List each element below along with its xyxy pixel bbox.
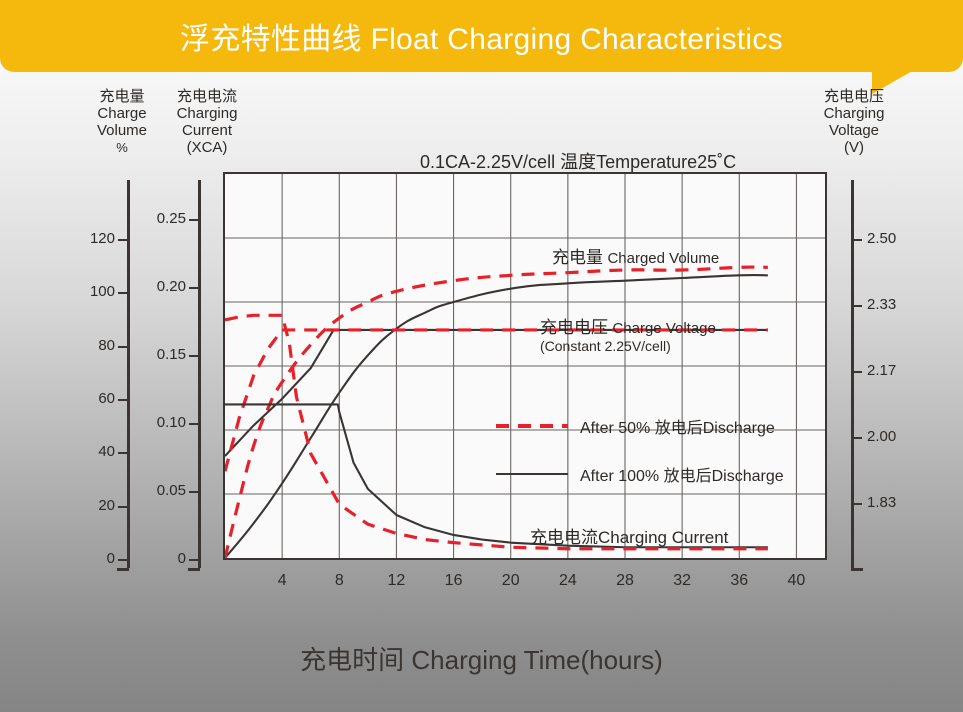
axis-title-line: % [78, 139, 166, 156]
axis-line-charging-current [198, 180, 201, 568]
axis-tick-label: 0.20 [0, 278, 186, 295]
axis-tick [851, 503, 862, 505]
axis-title-line: Charge [78, 105, 166, 122]
axis-tick-label: 40 [0, 443, 115, 460]
x-axis-tick-label: 32 [673, 572, 691, 590]
axis-tick-label: 2.17 [867, 362, 896, 379]
x-axis-title: 充电时间 Charging Time(hours) [0, 640, 963, 677]
axis-tick [851, 239, 862, 241]
legend-swatch-dashed [496, 424, 568, 428]
axis-tick [189, 423, 200, 425]
axis-tick-label: 0 [0, 550, 186, 567]
banner-body: 浮充特性曲线 Float Charging Characteristics [0, 0, 963, 72]
axis-tick [118, 239, 129, 241]
annotation-charging-current: 充电电流Charging Current [530, 528, 728, 548]
axis-tick [118, 399, 129, 401]
axis-tick-label: 0.15 [0, 346, 186, 363]
page-title: 浮充特性曲线 Float Charging Characteristics [180, 14, 783, 58]
axis-tick [851, 437, 862, 439]
axis-tick-label: 0.25 [0, 210, 186, 227]
annotation-charged-volume: 充电量 Charged Volume [552, 248, 719, 268]
chart-subtitle: 0.1CA-2.25V/cell 温度Temperature25˚C [420, 148, 736, 174]
x-axis-tick-label: 24 [559, 572, 577, 590]
axis-tick-label: 2.33 [867, 296, 896, 313]
axis-tick-label: 1.83 [867, 494, 896, 511]
axis-endcap [188, 568, 200, 571]
axis-title-line: 充电量 [78, 88, 166, 105]
axis-tick-label: 60 [0, 390, 115, 407]
axis-tick-label: 0.05 [0, 482, 186, 499]
axis-title-line: 充电电流 [164, 88, 250, 105]
axis-tick [189, 355, 200, 357]
annotation-sub: (Constant 2.25V/cell) [540, 338, 716, 354]
axis-title-line: (V) [812, 139, 896, 156]
axis-title-line: Volume [78, 122, 166, 139]
plot-svg [225, 174, 825, 558]
axis-tick [851, 305, 862, 307]
legend-item: After 100% 放电后Discharge [496, 450, 826, 498]
axis-tick [189, 287, 200, 289]
legend-swatch-solid [496, 473, 568, 475]
x-axis-tick-label: 36 [730, 572, 748, 590]
axis-tick [118, 506, 129, 508]
x-axis-tick-label: 20 [502, 572, 520, 590]
axis-tick [118, 452, 129, 454]
axis-title-charging-current: 充电电流 Charging Current (XCA) [164, 88, 250, 156]
x-axis-tick-label: 8 [335, 572, 344, 590]
legend: After 50% 放电后DischargeAfter 100% 放电后Disc… [496, 402, 826, 498]
axis-tick [851, 371, 862, 373]
axis-tick [189, 491, 200, 493]
axis-title-line: (XCA) [164, 139, 250, 156]
annotation-cn: 充电量 [552, 248, 603, 267]
annotation-cn: 充电电流Charging Current [530, 528, 728, 547]
chart-page: 浮充特性曲线 Float Charging Characteristics 充电… [0, 0, 963, 712]
axis-tick-label: 2.00 [867, 428, 896, 445]
annotation-charge-voltage: 充电电压 Charge Voltage (Constant 2.25V/cell… [540, 318, 716, 354]
x-axis-tick-label: 12 [388, 572, 406, 590]
legend-item: After 50% 放电后Discharge [496, 402, 826, 450]
axis-title-line: Current [164, 122, 250, 139]
annotation-en: Charge Voltage [612, 320, 715, 337]
axis-title-line: Charging [164, 105, 250, 122]
legend-label: After 50% 放电后Discharge [580, 414, 775, 438]
axis-tick-label: 20 [0, 497, 115, 514]
axis-tick-label: 0.10 [0, 414, 186, 431]
axis-title-line: Voltage [812, 122, 896, 139]
axis-tick-label: 120 [0, 230, 115, 247]
annotation-cn: 充电电压 [540, 318, 608, 337]
title-banner: 浮充特性曲线 Float Charging Characteristics [0, 0, 963, 76]
x-axis-tick-label: 28 [616, 572, 634, 590]
gridlines [225, 174, 825, 558]
plot-area [223, 172, 827, 560]
x-axis-tick-label: 16 [445, 572, 463, 590]
annotation-en: Charged Volume [607, 250, 719, 267]
x-axis-tick-label: 4 [278, 572, 287, 590]
legend-label: After 100% 放电后Discharge [580, 462, 784, 486]
axis-endcap [117, 568, 129, 571]
axis-title-line: Charging [812, 105, 896, 122]
axis-tick-label: 2.50 [867, 230, 896, 247]
x-axis-tick-label: 40 [788, 572, 806, 590]
axis-tick [189, 559, 200, 561]
axis-tick [189, 219, 200, 221]
axis-title-charging-voltage: 充电电压 Charging Voltage (V) [812, 88, 896, 156]
axis-title-line: 充电电压 [812, 88, 896, 105]
axis-endcap [851, 568, 863, 571]
axis-title-charge-volume: 充电量 Charge Volume % [78, 88, 166, 156]
